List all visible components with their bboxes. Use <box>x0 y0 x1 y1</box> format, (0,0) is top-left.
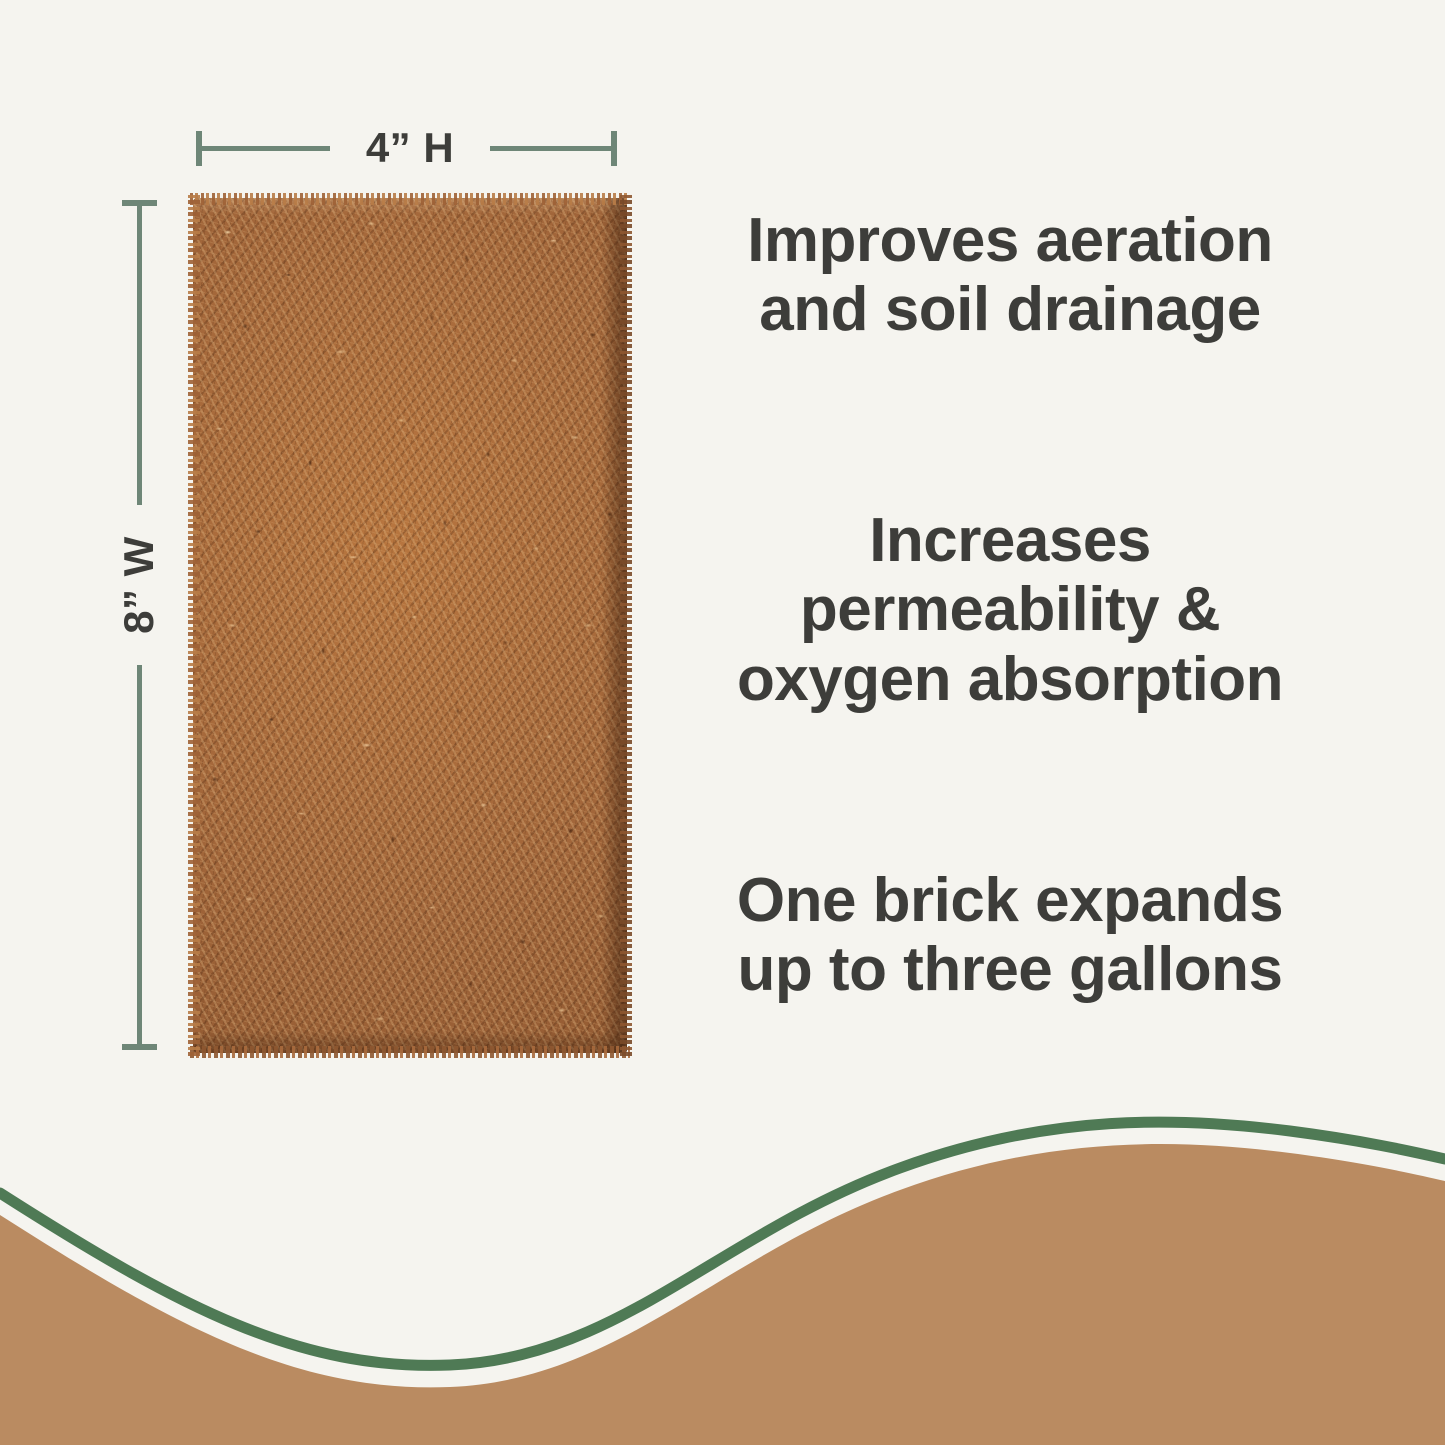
feature-line: Improves aeration <box>680 206 1340 275</box>
width-dimension-cap-bottom <box>122 1044 157 1050</box>
brick-highlight-top <box>193 198 627 214</box>
feature-permeability-oxygen: Increases permeability & oxygen absorpti… <box>680 506 1340 714</box>
coir-brick-texture <box>193 198 627 1053</box>
feature-line: oxygen absorption <box>680 645 1340 714</box>
feature-line: and soil drainage <box>680 275 1340 344</box>
feature-line: up to three gallons <box>680 935 1340 1004</box>
feature-aeration-drainage: Improves aeration and soil drainage <box>680 206 1340 345</box>
wave-tan-fill <box>0 1144 1445 1445</box>
brick-shadow-right <box>601 198 627 1053</box>
height-dimension-cap-right <box>611 131 617 166</box>
feature-expansion-volume: One brick expands up to three gallons <box>680 866 1340 1005</box>
height-dimension-label: 4” H <box>330 118 490 178</box>
feature-line: One brick expands <box>680 866 1340 935</box>
infographic-canvas: 4” H 8” W Improves aeration and soil dra… <box>0 0 1445 1445</box>
feature-line: permeability & <box>680 575 1340 644</box>
decorative-wave <box>0 1115 1445 1445</box>
feature-line: Increases <box>680 506 1340 575</box>
width-dimension-label: 8” W <box>109 505 169 665</box>
brick-shadow-bottom <box>193 1031 627 1053</box>
coir-brick-image <box>193 198 627 1053</box>
brick-edge-left <box>188 195 200 1056</box>
